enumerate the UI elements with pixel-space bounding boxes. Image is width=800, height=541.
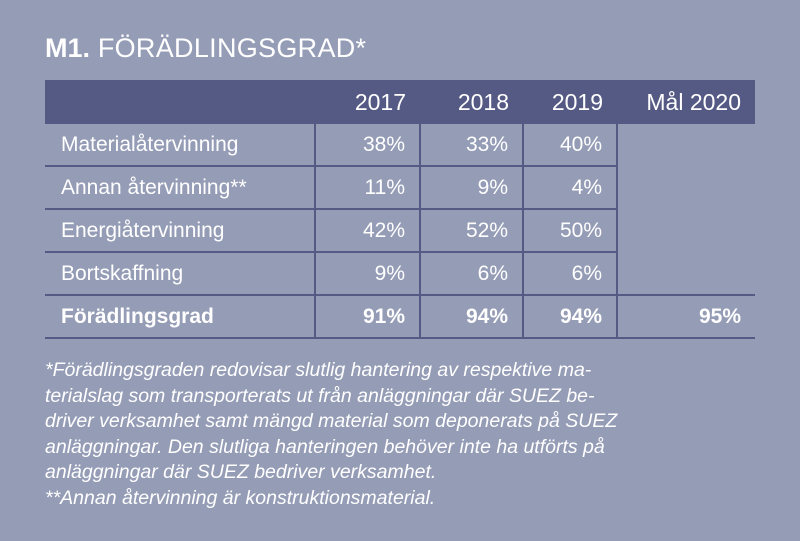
footnote-line: *Förädlingsgraden redovisar slutlig hant… (45, 358, 745, 384)
table-total-row: Förädlingsgrad 91% 94% 94% 95% (45, 295, 755, 338)
total-cell-2018: 94% (420, 295, 523, 338)
cell-2017: 42% (315, 209, 420, 252)
total-row-label: Förädlingsgrad (45, 295, 315, 338)
total-cell-goal-2020: 95% (617, 295, 755, 338)
footnote-line: terialslag som transporterats ut från an… (45, 384, 745, 410)
cell-2017: 9% (315, 252, 420, 295)
table-row: Materialåtervinning 38% 33% 40% (45, 124, 755, 166)
table-row: Bortskaffning 9% 6% 6% (45, 252, 755, 295)
table-header: 2017 2018 2019 Mål 2020 (45, 80, 755, 124)
figure-code: M1. (45, 33, 90, 63)
cell-2018: 52% (420, 209, 523, 252)
cell-goal-2020 (617, 166, 755, 209)
data-table: 2017 2018 2019 Mål 2020 Materialåtervinn… (45, 80, 755, 339)
cell-goal-2020 (617, 252, 755, 295)
footnotes: *Förädlingsgraden redovisar slutlig hant… (45, 358, 745, 511)
row-label: Materialåtervinning (45, 124, 315, 166)
row-label: Bortskaffning (45, 252, 315, 295)
column-header-label (45, 80, 315, 124)
footnote-line: anläggningar där SUEZ bedriver verksamhe… (45, 460, 745, 486)
cell-2018: 6% (420, 252, 523, 295)
column-header-2018: 2018 (420, 80, 523, 124)
total-cell-2019: 94% (523, 295, 617, 338)
cell-2019: 4% (523, 166, 617, 209)
table-row: Energiåtervinning 42% 52% 50% (45, 209, 755, 252)
table-header-row: 2017 2018 2019 Mål 2020 (45, 80, 755, 124)
column-header-2017: 2017 (315, 80, 420, 124)
footnote-line: driver verksamhet samt mängd material so… (45, 409, 745, 435)
row-label: Annan återvinning** (45, 166, 315, 209)
footnote-line: **Annan återvinning är konstruktionsmate… (45, 486, 745, 512)
cell-goal-2020 (617, 124, 755, 166)
cell-2019: 6% (523, 252, 617, 295)
cell-2018: 33% (420, 124, 523, 166)
figure-container: M1. FÖRÄDLINGSGRAD* 2017 2018 2019 Mål 2… (0, 0, 800, 541)
page-title: M1. FÖRÄDLINGSGRAD* (45, 0, 755, 66)
column-header-2019: 2019 (523, 80, 617, 124)
cell-2019: 40% (523, 124, 617, 166)
cell-2017: 38% (315, 124, 420, 166)
data-table-wrapper: 2017 2018 2019 Mål 2020 Materialåtervinn… (45, 80, 755, 339)
cell-2018: 9% (420, 166, 523, 209)
table-row: Annan återvinning** 11% 9% 4% (45, 166, 755, 209)
row-label: Energiåtervinning (45, 209, 315, 252)
cell-2019: 50% (523, 209, 617, 252)
column-header-goal-2020: Mål 2020 (617, 80, 755, 124)
cell-2017: 11% (315, 166, 420, 209)
cell-goal-2020 (617, 209, 755, 252)
total-cell-2017: 91% (315, 295, 420, 338)
figure-title-text: FÖRÄDLINGSGRAD* (98, 33, 367, 63)
table-body: Materialåtervinning 38% 33% 40% Annan åt… (45, 124, 755, 338)
footnote-line: anläggningar. Den slutliga hanteringen b… (45, 435, 745, 461)
